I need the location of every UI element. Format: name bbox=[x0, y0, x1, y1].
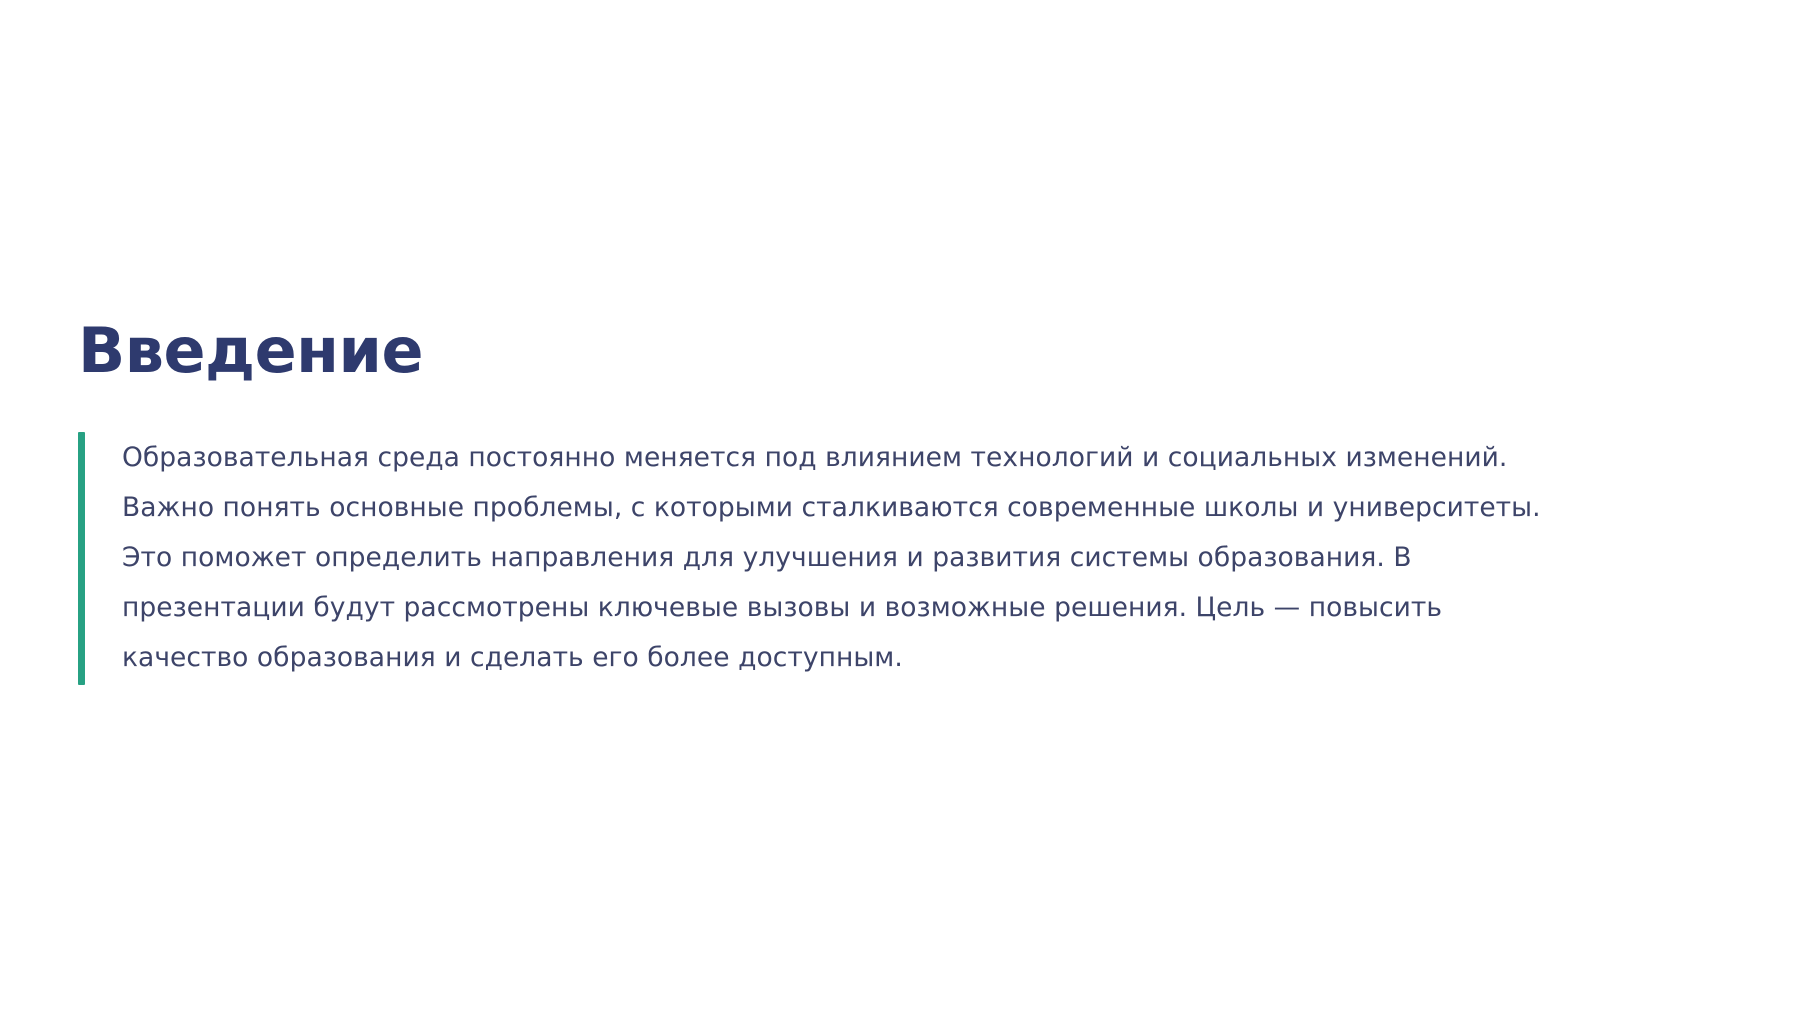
slide-content: Введение Образовательная среда постоянно… bbox=[78, 318, 1718, 685]
body-text: Образовательная среда постоянно меняется… bbox=[85, 432, 1542, 685]
body-paragraph: Образовательная среда постоянно меняется… bbox=[122, 433, 1542, 683]
body-block: Образовательная среда постоянно меняется… bbox=[78, 432, 1718, 685]
page-title: Введение bbox=[78, 318, 1718, 383]
slide: Введение Образовательная среда постоянно… bbox=[0, 0, 1800, 1013]
accent-bar bbox=[78, 432, 85, 685]
